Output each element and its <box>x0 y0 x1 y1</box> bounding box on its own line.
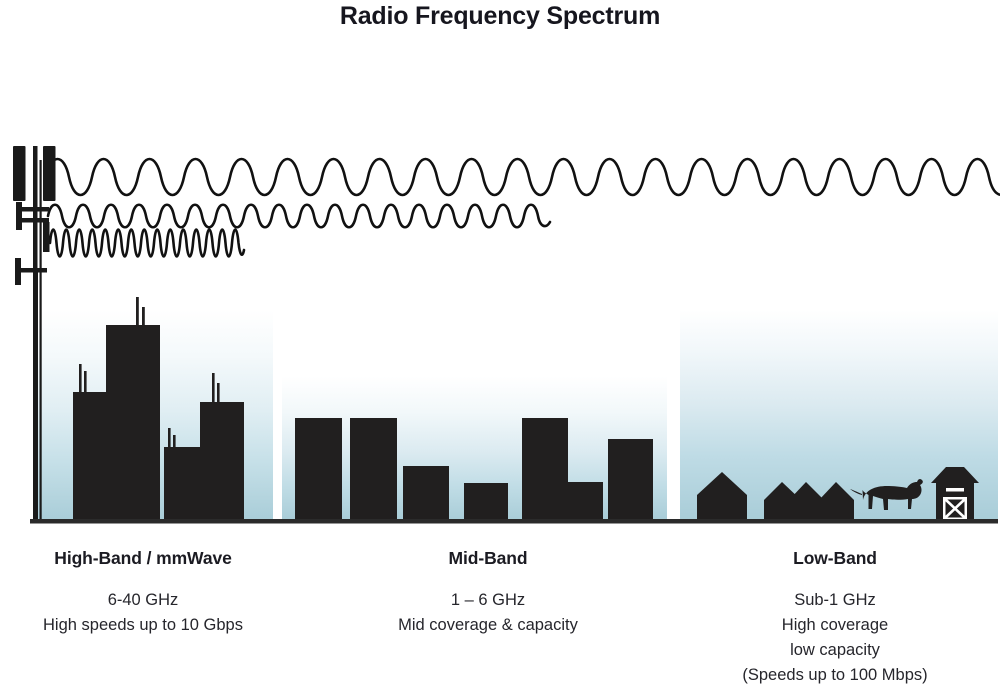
ground-line <box>30 519 998 524</box>
band-description-high-band: 6-40 GHz High speeds up to 10 Gbps <box>0 588 286 638</box>
mid-building-1 <box>295 418 342 520</box>
band-description-low-band: Sub-1 GHz High coverage low capacity (Sp… <box>690 588 980 688</box>
skyscraper-4-spire-b <box>217 383 220 404</box>
infographic-canvas: Radio Frequency Spectrum <box>0 0 1000 700</box>
band-detail-high-band: High speeds up to 10 Gbps <box>0 613 286 638</box>
skyscraper-2-spire-b <box>142 307 145 327</box>
radio-waves <box>46 159 1000 257</box>
mid-building-3 <box>403 466 449 520</box>
band-frequency-mid-band: 1 – 6 GHz <box>345 588 631 613</box>
mid-building-4 <box>464 483 508 520</box>
band-label-mid-band: Mid-Band <box>345 548 631 569</box>
skyscraper-4 <box>200 402 244 520</box>
band-label-low-band: Low-Band <box>690 548 980 569</box>
mid-building-6 <box>568 482 603 520</box>
skyscraper-1-spire-b <box>84 371 87 394</box>
tower-antenna-small-mid <box>43 222 50 252</box>
mid-building-7 <box>608 439 653 520</box>
tower-foot <box>35 272 38 520</box>
skyscraper-2-spire-a <box>136 297 139 327</box>
band-frequency-low-band: Sub-1 GHz <box>690 588 980 613</box>
short-wave-path <box>50 230 244 257</box>
skyscraper-3 <box>164 447 206 520</box>
barn-hayloft-slot <box>946 488 964 492</box>
band-detail-mid-band: Mid coverage & capacity <box>345 613 631 638</box>
skyscraper-2 <box>106 325 160 520</box>
band-detail-low-band-2: low capacity <box>690 638 980 663</box>
tower-antenna-small-left-upper <box>16 202 22 230</box>
tower-antenna-small-left-lower <box>15 258 21 285</box>
skyscraper-3-spire-b <box>173 435 176 449</box>
tower-antenna-panel-left <box>13 146 26 201</box>
mid-building-2 <box>350 418 397 520</box>
band-frequency-high-band: 6-40 GHz <box>0 588 286 613</box>
skyscraper-1-spire-a <box>79 364 82 394</box>
band-detail-low-band-3: (Speeds up to 100 Mbps) <box>690 663 980 688</box>
tower-mast-secondary <box>40 160 42 520</box>
mid-building-5 <box>522 418 568 520</box>
tower-antenna-panel-right <box>43 146 56 201</box>
long-wave-path <box>46 159 1000 195</box>
band-description-mid-band: 1 – 6 GHz Mid coverage & capacity <box>345 588 631 638</box>
tower-crossarm-lower <box>17 268 47 273</box>
band-label-high-band: High-Band / mmWave <box>0 548 286 569</box>
medium-wave-path <box>48 205 550 228</box>
skyscraper-3-spire-a <box>168 428 171 449</box>
band-detail-low-band: High coverage <box>690 613 980 638</box>
skyscraper-4-spire-a <box>212 373 215 404</box>
